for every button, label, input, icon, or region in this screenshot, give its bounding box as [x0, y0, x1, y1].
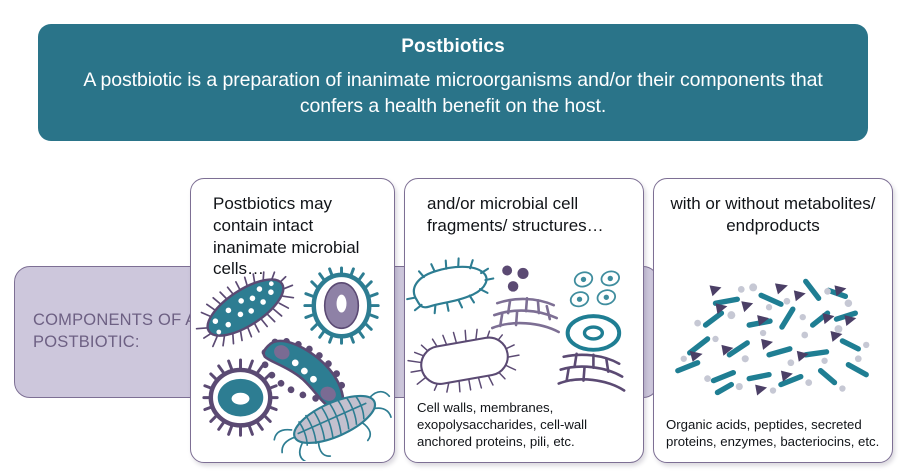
cell-wall-mesh-upper-icon	[492, 298, 558, 332]
intact-microbial-cells-illustration	[191, 265, 394, 461]
panel-metabolites: with or without metabolites/ endproducts	[653, 178, 893, 463]
metabolites-illustration	[654, 263, 892, 403]
piliated-cell-outline-icon	[405, 253, 499, 323]
spiked-coccus-teal-icon	[305, 268, 378, 343]
panel-intact-cells: Postbiotics may contain intact inanimate…	[190, 178, 395, 463]
vesicles-icon	[569, 270, 621, 309]
panel-cell-fragments: and/or microbial cell fragments/ structu…	[404, 178, 644, 463]
panel-3-heading: with or without metabolites/ endproducts	[654, 193, 892, 237]
membrane-ring-icon	[568, 316, 620, 350]
panel-2-heading: and/or microbial cell fragments/ structu…	[405, 193, 643, 237]
cell-fragments-illustration	[405, 253, 643, 405]
cell-wall-ghost-outline-icon	[405, 322, 523, 400]
postbiotics-banner: Postbiotics A postbiotic is a preparatio…	[38, 24, 868, 141]
banner-definition: A postbiotic is a preparation of inanima…	[83, 68, 823, 119]
panel-3-caption: Organic acids, peptides, secreted protei…	[654, 416, 892, 450]
infographic-canvas: Postbiotics A postbiotic is a preparatio…	[0, 0, 900, 474]
spiked-coccus-purple-icon	[204, 360, 277, 435]
panel-2-caption: Cell walls, membranes, exopolysaccharide…	[405, 399, 643, 450]
sidebar-label: COMPONENTS OF A POSTBIOTIC:	[15, 310, 203, 354]
banner-title: Postbiotics	[401, 36, 505, 59]
cell-wall-mesh-lower-icon	[559, 354, 624, 391]
secreted-particles-icon	[502, 266, 528, 292]
